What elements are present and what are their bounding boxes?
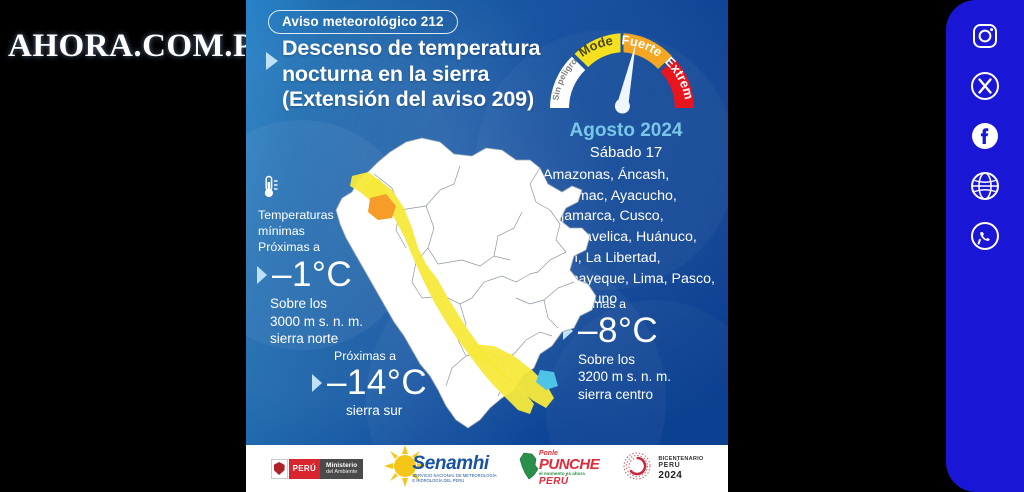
peru-shield-icon [271, 459, 288, 479]
minam-line-1: Ministerio [326, 462, 357, 469]
bicentenario-line-3: 2024 [658, 470, 703, 481]
minam-logo: PERÚ Ministerio del Ambiente [271, 457, 364, 480]
minam-line-2: del Ambiente [326, 469, 357, 475]
severity-gauge: Sin peligro Moderada Fuerte Extrema [532, 4, 712, 126]
instagram-icon[interactable] [965, 16, 1005, 56]
facebook-icon[interactable] [965, 116, 1005, 156]
social-rail [946, 0, 1024, 492]
advisory-title: Descenso de temperatura nocturna en la s… [266, 36, 566, 113]
footer-logo-bar: PERÚ Ministerio del Ambiente Sen [246, 445, 728, 492]
marca-peru-logo: Ponle PUNCHE el momento es ahora PERÚ [518, 450, 599, 487]
bicentenario-line-2: PERÚ [658, 462, 703, 470]
title-line-2: nocturna en la sierra [282, 62, 566, 88]
marca-peru-line-2: PUNCHE [539, 457, 599, 472]
x-twitter-icon[interactable] [965, 66, 1005, 106]
caret-right-icon [312, 374, 322, 392]
advisory-badge: Aviso meteorológico 212 [268, 10, 458, 34]
senamhi-sub-2: E HIDROLOGÍA DEL PERÚ [412, 478, 496, 483]
site-watermark: AHORA.COM.PE [8, 28, 276, 65]
title-line-1: Descenso de temperatura [282, 36, 566, 62]
bicentenario-logo: BICENTENARIO PERÚ 2024 [620, 449, 703, 488]
caret-right-icon [257, 266, 267, 284]
senamhi-brand: Senamhi [412, 454, 496, 473]
minam-peru-label: PERÚ [289, 459, 320, 479]
title-line-3: (Extensión del aviso 209) [282, 87, 566, 113]
whatsapp-icon[interactable] [965, 216, 1005, 256]
bicentenario-emblem-icon [620, 449, 654, 488]
marca-peru-line-4: PERÚ [539, 477, 599, 487]
senamhi-logo: Senamhi SERVICIO NACIONAL DE METEOROLOGÍ… [384, 445, 496, 492]
peru-map [334, 132, 624, 432]
triangle-bullet-icon [266, 52, 278, 70]
weather-advisory-card: Aviso meteorológico 212 Descenso de temp… [246, 0, 728, 492]
website-globe-icon[interactable] [965, 166, 1005, 206]
screenshot-root: AHORA.COM.PE Aviso meteorológico 212 Des… [0, 0, 1024, 492]
